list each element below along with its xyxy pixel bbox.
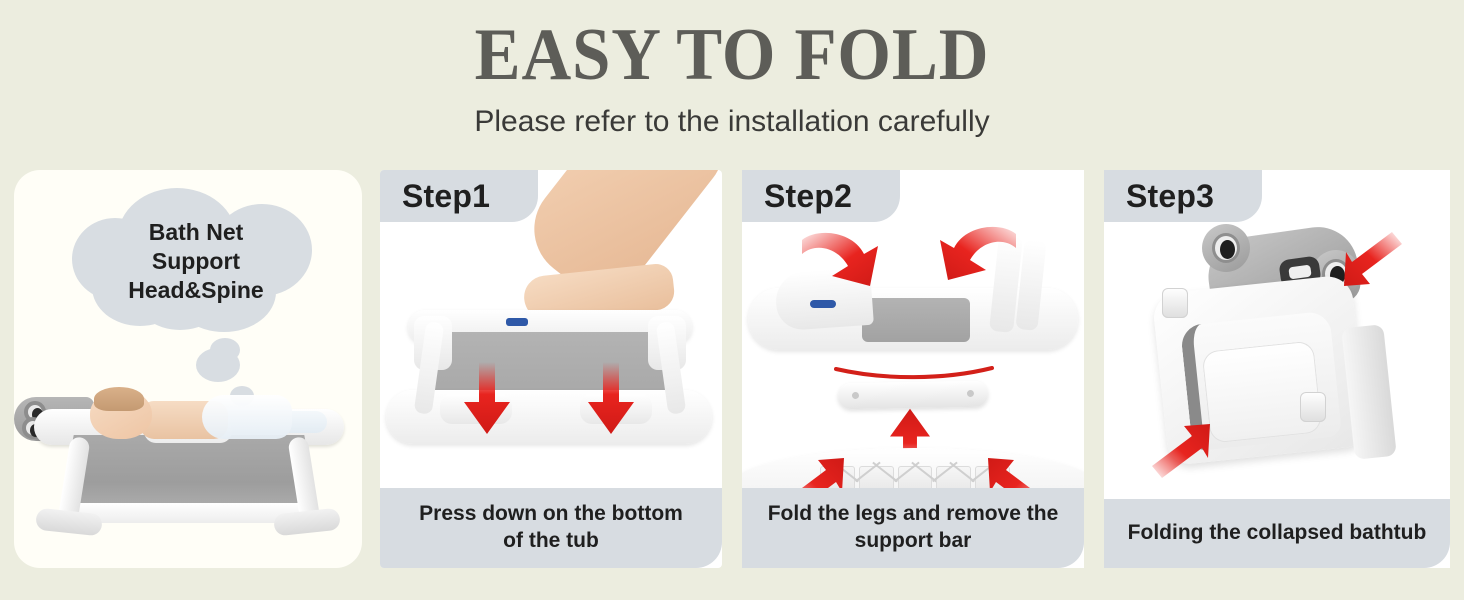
diagonal-arrow-down-left-icon bbox=[1148, 422, 1210, 478]
step2-tray-center bbox=[862, 298, 970, 342]
curved-arrow-right-icon bbox=[934, 222, 1020, 288]
frog-eye-left bbox=[1202, 224, 1250, 272]
step1-badge: Step1 bbox=[380, 170, 538, 222]
hinge-bottom-right bbox=[1300, 392, 1326, 422]
page-subtitle: Please refer to the installation careful… bbox=[0, 104, 1464, 140]
step2-caption: Fold the legs and remove the support bar bbox=[742, 488, 1084, 568]
bathtub-with-baby bbox=[14, 385, 362, 555]
thought-bubble: Bath Net Support Head&Spine bbox=[72, 188, 320, 336]
step2-blue-tab bbox=[810, 300, 836, 308]
step3-caption: Folding the collapsed bathtub bbox=[1104, 499, 1450, 568]
diagonal-arrow-up-right-icon bbox=[1344, 232, 1406, 288]
bubble-line-2: Support bbox=[72, 247, 320, 276]
step1-tub-base-tray bbox=[386, 390, 712, 444]
support-bar bbox=[838, 381, 988, 410]
step2-caption-line-2: support bar bbox=[760, 527, 1066, 554]
bubble-line-1: Bath Net bbox=[72, 218, 320, 247]
step-panel-3: Step3 Folding the collapsed bathtub bbox=[1104, 170, 1450, 568]
down-arrow-right-icon bbox=[588, 362, 634, 434]
infographic-page: EASY TO FOLD Please refer to the install… bbox=[0, 0, 1464, 600]
bubble-line-3: Head&Spine bbox=[72, 276, 320, 305]
step1-caption-line-2: of the tub bbox=[398, 527, 704, 554]
step-panel-1: Step1 Press down on the bottom of the tu… bbox=[380, 170, 722, 568]
feature-illustration: Bath Net Support Head&Spine bbox=[14, 170, 362, 568]
step-panel-2: Step2 Fold the legs and remove the suppo… bbox=[742, 170, 1084, 568]
hinge-top-left bbox=[1162, 288, 1188, 318]
support-bar-curve-line bbox=[834, 366, 994, 382]
feature-panel: Bath Net Support Head&Spine bbox=[14, 170, 362, 568]
step2-badge: Step2 bbox=[742, 170, 900, 222]
thought-bubble-text: Bath Net Support Head&Spine bbox=[72, 218, 320, 305]
step1-caption-line-1: Press down on the bottom bbox=[398, 500, 704, 527]
down-arrow-left-icon bbox=[464, 362, 510, 434]
baby-figure bbox=[82, 385, 282, 443]
step3-caption-line-1: Folding the collapsed bathtub bbox=[1122, 519, 1432, 546]
step1-caption: Press down on the bottom of the tub bbox=[380, 488, 722, 568]
page-title: EASY TO FOLD bbox=[51, 16, 1413, 94]
curved-arrow-left-icon bbox=[798, 228, 884, 294]
step1-blue-tab bbox=[506, 318, 528, 326]
step2-caption-line-1: Fold the legs and remove the bbox=[760, 500, 1066, 527]
thought-bubble-tail-mid bbox=[210, 338, 240, 362]
step3-badge: Step3 bbox=[1104, 170, 1262, 222]
